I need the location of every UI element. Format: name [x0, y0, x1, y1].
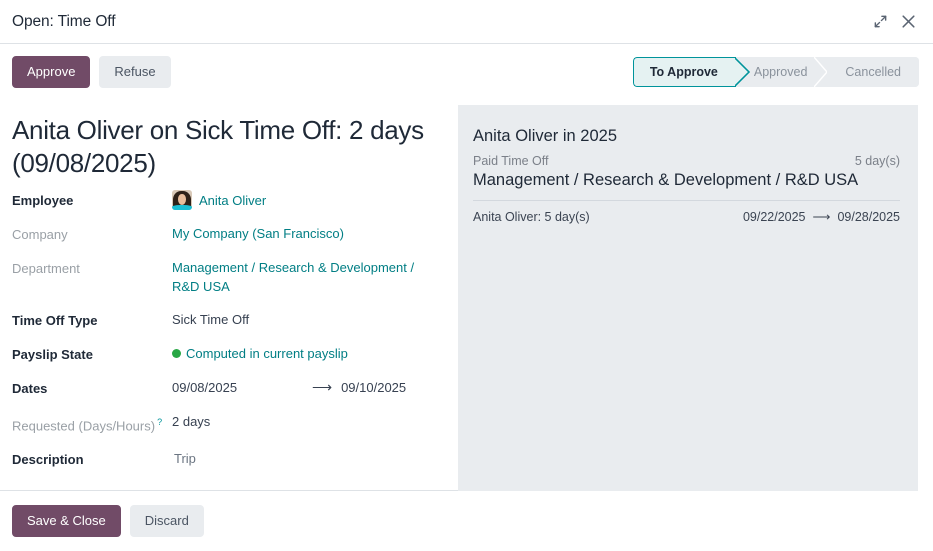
save-close-button[interactable]: Save & Close	[12, 505, 121, 537]
date-to-input[interactable]: 09/10/2025	[341, 378, 406, 397]
status-dot-icon	[172, 349, 181, 358]
arrow-right-icon: ⟶	[312, 378, 332, 397]
field-value-timeoff-type[interactable]: Sick Time Off	[172, 310, 442, 329]
field-employee: Employee Anita Oliver	[12, 190, 442, 210]
field-department: Department Management / Research & Devel…	[12, 258, 442, 296]
close-icon[interactable]	[895, 9, 921, 35]
side-panel-entry-row: Anita Oliver: 5 day(s) 09/22/2025 ⟶ 09/2…	[473, 209, 900, 224]
avatar	[172, 190, 192, 210]
department-link[interactable]: Management / Research & Development / R&…	[172, 258, 442, 296]
refuse-button[interactable]: Refuse	[99, 56, 170, 88]
side-panel-title: Anita Oliver in 2025	[473, 125, 900, 147]
side-panel-type-label: Paid Time Off	[473, 154, 549, 168]
status-step-to-approve[interactable]: To Approve	[633, 57, 736, 87]
field-value-requested-days[interactable]: 2 days	[172, 412, 442, 431]
field-value-dates: 09/08/2025 ⟶ 09/10/2025	[172, 378, 442, 397]
time-off-dialog: Open: Time Off Approve Refuse To Approve	[0, 0, 933, 551]
field-label-timeoff-type: Time Off Type	[12, 310, 172, 330]
expand-icon[interactable]	[867, 9, 893, 35]
status-step-label: Cancelled	[845, 65, 901, 79]
field-description: Description Trip	[12, 449, 442, 469]
side-panel-entry-to: 09/28/2025	[837, 210, 900, 224]
payslip-state-text[interactable]: Computed in current payslip	[186, 346, 348, 361]
field-label-company: Company	[12, 224, 172, 244]
dialog-footer: Save & Close Discard	[0, 491, 933, 551]
side-panel-entry-name: Anita Oliver: 5 day(s)	[473, 210, 743, 224]
field-label-employee: Employee	[12, 190, 172, 210]
help-icon[interactable]: ?	[157, 417, 162, 427]
side-panel-department: Management / Research & Development / R&…	[473, 169, 900, 191]
approve-button[interactable]: Approve	[12, 56, 90, 88]
field-label-department: Department	[12, 258, 172, 278]
field-label-payslip-state: Payslip State	[12, 344, 172, 364]
field-company: Company My Company (San Francisco)	[12, 224, 442, 244]
field-value-employee: Anita Oliver	[172, 190, 442, 210]
arrow-right-icon: ⟶	[813, 209, 831, 224]
field-label-description: Description	[12, 449, 172, 469]
field-timeoff-type: Time Off Type Sick Time Off	[12, 310, 442, 330]
side-panel-type-row: Paid Time Off 5 day(s)	[473, 154, 900, 168]
status-step-cancelled[interactable]: Cancelled	[827, 57, 919, 87]
field-payslip-state: Payslip State Computed in current paysli…	[12, 344, 442, 364]
dialog-title: Open: Time Off	[12, 13, 115, 31]
dialog-body: Anita Oliver on Sick Time Off: 2 days (0…	[0, 100, 933, 491]
field-dates: Dates 09/08/2025 ⟶ 09/10/2025	[12, 378, 442, 398]
employee-link[interactable]: Anita Oliver	[199, 191, 266, 210]
discard-button[interactable]: Discard	[130, 505, 204, 537]
field-value-payslip-state: Computed in current payslip	[172, 344, 442, 363]
side-panel-divider	[473, 200, 900, 201]
form-pane: Anita Oliver on Sick Time Off: 2 days (0…	[0, 101, 458, 491]
field-requested-days: Requested (Days/Hours)? 2 days	[12, 412, 442, 435]
action-bar: Approve Refuse To Approve Approved	[0, 44, 933, 100]
status-step-label: To Approve	[650, 65, 718, 79]
date-from-input[interactable]: 09/08/2025	[172, 378, 312, 397]
leave-summary-card: Anita Oliver in 2025 Paid Time Off 5 day…	[458, 105, 918, 491]
side-panel-type-amount: 5 day(s)	[855, 154, 900, 168]
status-step-label: Approved	[754, 65, 808, 79]
description-input[interactable]: Trip	[172, 449, 442, 468]
side-pane: Anita Oliver in 2025 Paid Time Off 5 day…	[458, 101, 933, 491]
side-panel-entry-from: 09/22/2025	[743, 210, 806, 224]
chevron-right-icon	[814, 57, 828, 87]
side-panel-entry-dates: 09/22/2025 ⟶ 09/28/2025	[743, 209, 900, 224]
dialog-titlebar: Open: Time Off	[0, 0, 933, 44]
status-step-approved[interactable]: Approved	[736, 57, 828, 87]
field-label-requested-days: Requested (Days/Hours)?	[12, 412, 172, 435]
status-pipeline: To Approve Approved Cancelled	[633, 57, 919, 87]
field-label-requested-text: Requested (Days/Hours)	[12, 418, 155, 433]
company-link[interactable]: My Company (San Francisco)	[172, 224, 442, 243]
record-title: Anita Oliver on Sick Time Off: 2 days (0…	[12, 114, 442, 180]
field-label-dates: Dates	[12, 378, 172, 398]
